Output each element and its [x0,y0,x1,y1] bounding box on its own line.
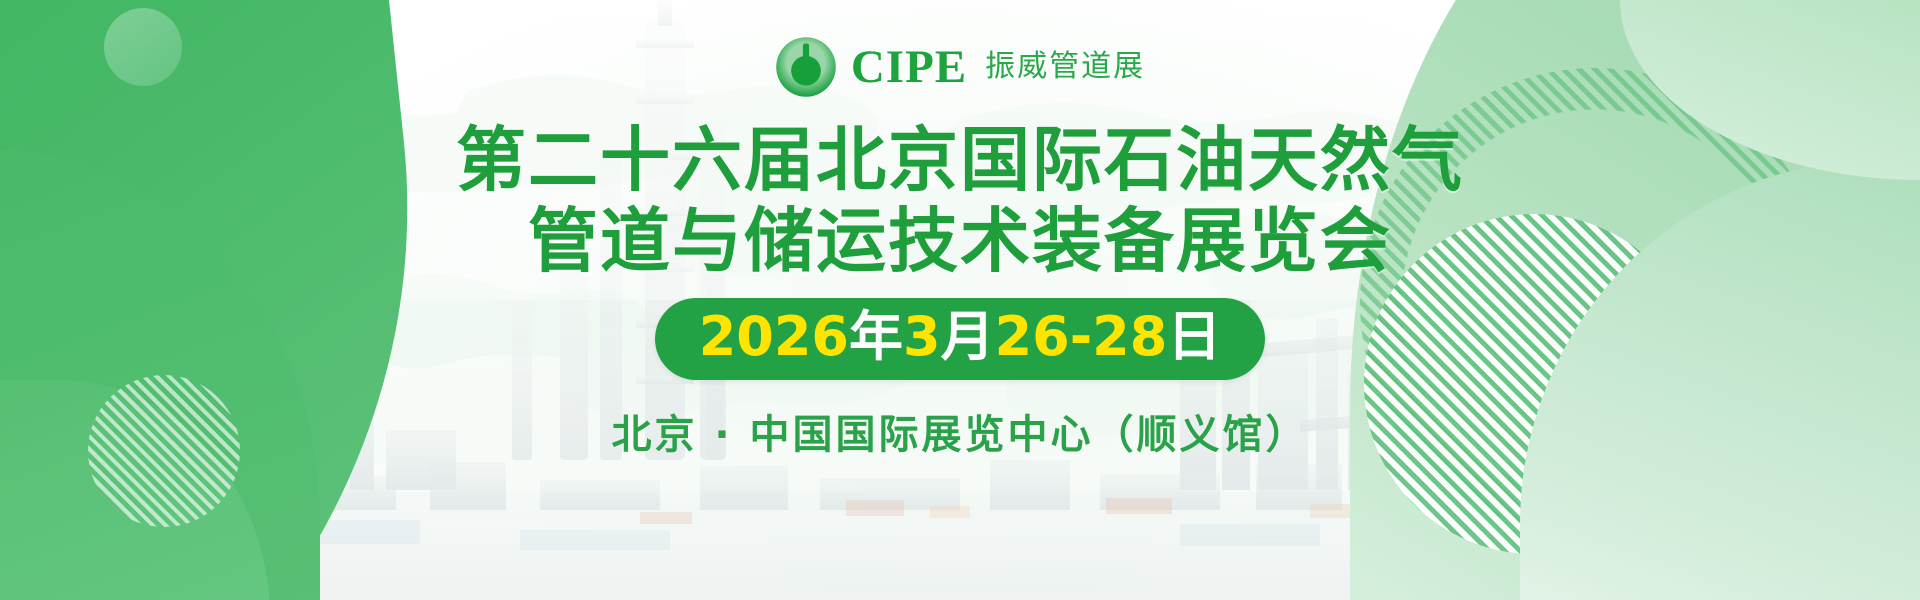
date-month-unit: 月 [941,305,995,369]
event-date-badge: 2026 年 3 月 26-28 日 [655,298,1266,380]
date-month: 3 [903,305,941,369]
title-line-2: 管道与储运技术装备展览会 [456,201,1464,282]
date-days: 26-28 [995,305,1168,369]
title-line-1: 第二十六届北京国际石油天然气 [456,120,1464,201]
cipe-valve-circle-logo-icon [775,36,837,98]
cipe-wordmark: CIPE [851,44,967,91]
date-year: 2026 [699,305,849,369]
banner-content: CIPE 振威管道展 第二十六届北京国际石油天然气 管道与储运技术装备展览会 2… [0,0,1920,600]
cipe-chinese-name: 振威管道展 [985,52,1145,82]
date-day-unit: 日 [1167,305,1221,369]
cipe-logo: CIPE 振威管道展 [775,36,1145,98]
event-banner: CIPE 振威管道展 第二十六届北京国际石油天然气 管道与储运技术装备展览会 2… [0,0,1920,600]
date-year-unit: 年 [849,305,903,369]
venue-text: 北京 · 中国国际展览中心（顺义馆） [611,402,1308,460]
page-title: 第二十六届北京国际石油天然气 管道与储运技术装备展览会 [456,120,1464,282]
